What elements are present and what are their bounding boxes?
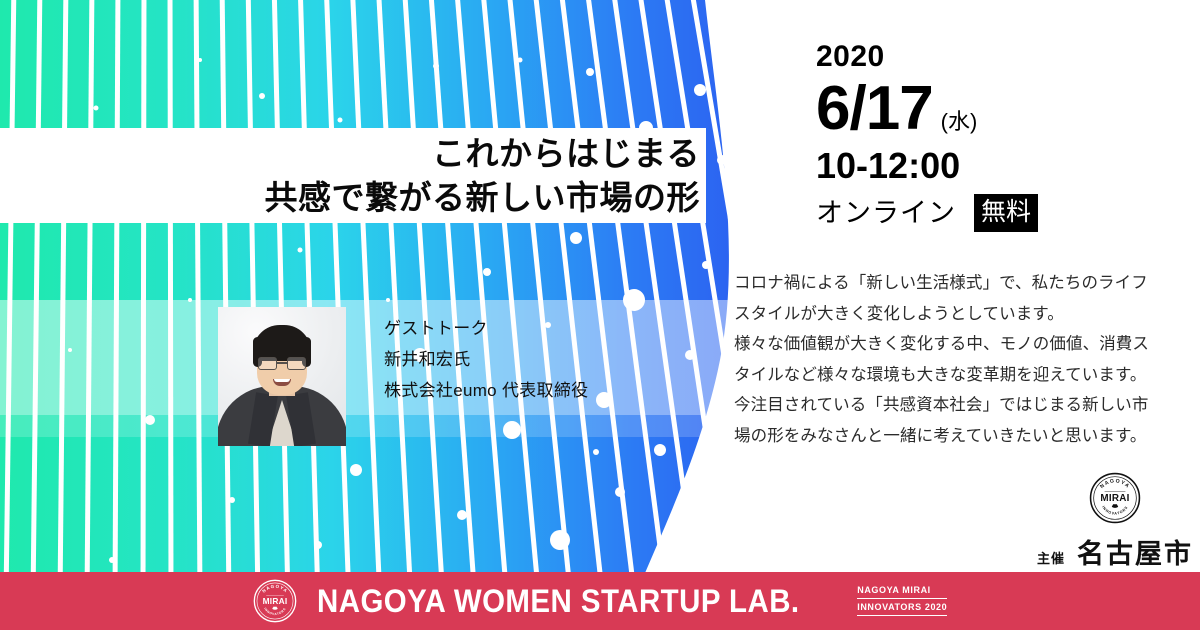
guest-label: ゲストトーク <box>384 313 588 344</box>
event-venue: オンライン <box>816 196 956 230</box>
striped-background-artwork <box>0 0 790 573</box>
banner-subtitle: NAGOYA MIRAI INNOVATORS 2020 <box>857 584 947 618</box>
description-line: スタイルが大きく変化しようとしています。 <box>734 299 1200 330</box>
guest-photo <box>218 307 346 446</box>
guest-speaker-block: ゲストトーク 新井和宏氏 株式会社eumo 代表取締役 <box>218 307 588 446</box>
banner-title: NAGOYA WOMEN STARTUP LAB. <box>317 583 800 620</box>
event-date-block: 2020 6/17 (水) 10-12:00 オンライン 無料 <box>816 40 1038 232</box>
photo-glasses <box>258 357 306 370</box>
description-line: 今注目されている「共感資本社会」ではじまる新しい市 <box>734 390 1200 421</box>
event-time: 10-12:00 <box>816 144 1038 188</box>
description-line: 様々な価値観が大きく変化する中、モノの価値、消費ス <box>734 329 1200 360</box>
sponsor-block: NAGOYA INNOVATORS MIRAI 主催 名古屋市 <box>1030 472 1200 571</box>
guest-affiliation: 株式会社eumo 代表取締役 <box>384 375 588 406</box>
event-venue-row: オンライン 無料 <box>816 194 1038 232</box>
event-day-of-week: (水) <box>941 107 978 137</box>
info-panel: 2020 6/17 (水) 10-12:00 オンライン 無料 コロナ禍による「… <box>730 0 1200 573</box>
title-line-2: 共感で繋がる新しい市場の形 <box>265 176 701 220</box>
event-fee-badge: 無料 <box>974 194 1038 232</box>
sponsor-row: 主催 名古屋市 <box>1037 532 1193 571</box>
bottom-banner: NAGOYA INNOVATORS MIRAI NAGOYA WOMEN STA… <box>0 572 1200 630</box>
svg-text:MIRAI: MIRAI <box>1100 493 1129 504</box>
sponsor-name: 名古屋市 <box>1077 532 1193 571</box>
banner-subtitle-line-2: INNOVATORS 2020 <box>857 601 947 616</box>
banner-subtitle-line-1: NAGOYA MIRAI <box>857 584 947 599</box>
svg-text:NAGOYA: NAGOYA <box>261 584 289 594</box>
event-flyer: これからはじまる 共感で繋がる新しい市場の形 ゲストトーク 新井和宏氏 株式会社… <box>0 0 1200 630</box>
guest-name: 新井和宏氏 <box>384 344 588 375</box>
guest-details: ゲストトーク 新井和宏氏 株式会社eumo 代表取締役 <box>384 307 588 406</box>
description-line: タイルなど様々な環境も大きな変革期を迎えています。 <box>734 360 1200 391</box>
event-date: 6/17 <box>816 76 933 142</box>
description-line: 場の形をみなさんと一緒に考えていきたいと思います。 <box>734 421 1200 452</box>
event-year: 2020 <box>816 40 1038 74</box>
mirai-badge-icon: NAGOYA INNOVATORS MIRAI <box>1089 472 1141 524</box>
event-description: コロナ禍による「新しい生活様式」で、私たちのライフ スタイルが大きく変化しようと… <box>734 268 1200 451</box>
title-line-1: これからはじまる <box>432 132 700 176</box>
svg-text:MIRAI: MIRAI <box>262 596 287 606</box>
description-line: コロナ禍による「新しい生活様式」で、私たちのライフ <box>734 268 1200 299</box>
banner-content: NAGOYA INNOVATORS MIRAI NAGOYA WOMEN STA… <box>253 579 948 623</box>
mirai-badge-white-icon: NAGOYA INNOVATORS MIRAI <box>253 579 297 623</box>
sponsor-label: 主催 <box>1037 548 1065 567</box>
event-date-row: 6/17 (水) <box>816 76 1038 142</box>
page-title: これからはじまる 共感で繋がる新しい市場の形 <box>0 129 700 223</box>
